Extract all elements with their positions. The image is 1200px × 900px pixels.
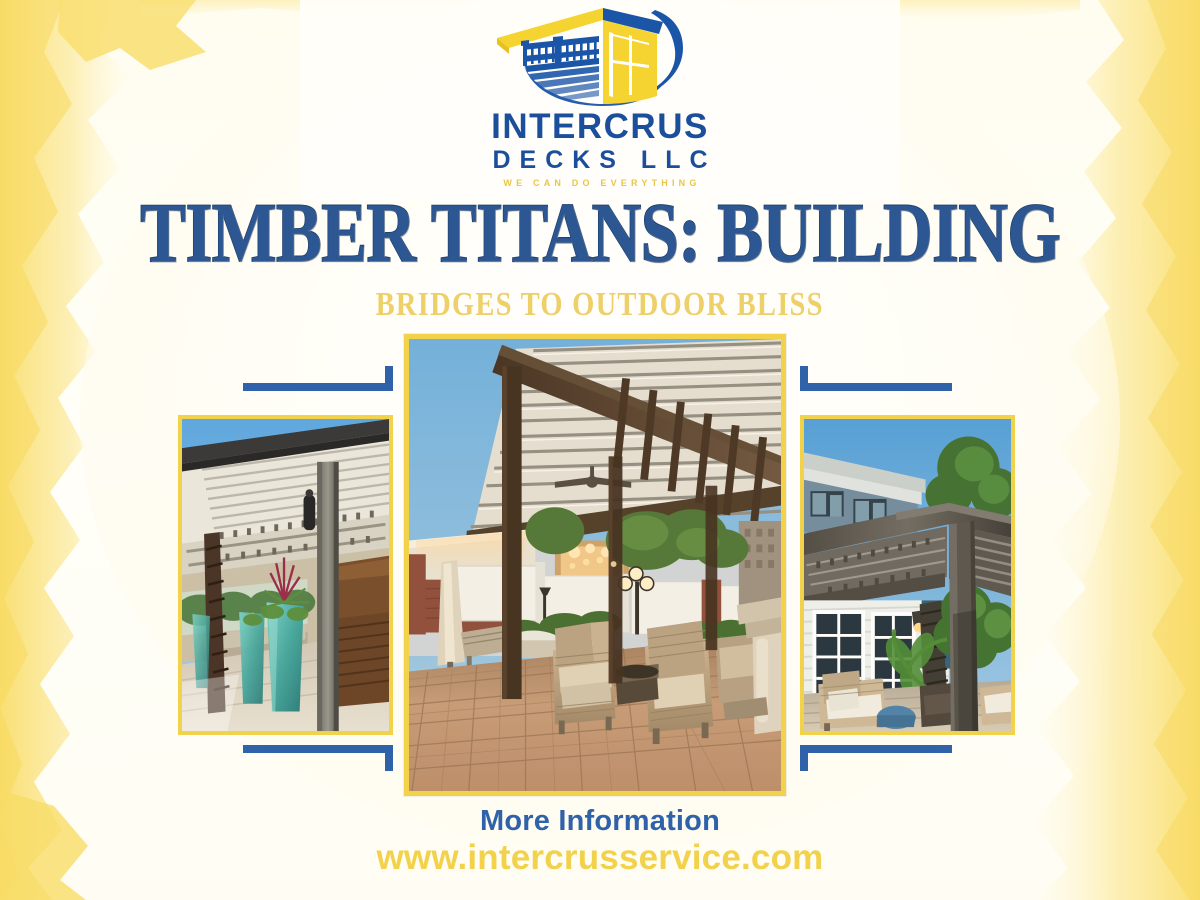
poster-canvas: INTERCRUS DECKS LLC WE CAN DO EVERYTHING… — [0, 0, 1200, 900]
page-title: TIMBER TITANS: BUILDING — [0, 192, 1200, 258]
bracket-right-bottom-horizontal — [800, 745, 952, 753]
bracket-left-top-horizontal — [243, 383, 393, 391]
bracket-left-top-vertical — [385, 366, 393, 391]
page-subtitle-text: BRIDGES TO OUTDOOR BLISS — [376, 288, 824, 322]
bracket-right-bottom-vertical — [800, 745, 808, 771]
pergola-with-teal-planters-photo — [182, 419, 389, 731]
brand-wordmark: INTERCRUS — [491, 109, 709, 144]
gallery-photo-center-frame[interactable] — [404, 334, 786, 796]
footer-contact: More Information www.intercrusservice.co… — [0, 806, 1200, 879]
backyard-pergola-attached-photo — [804, 419, 1011, 731]
deck-house-logo-icon — [487, 4, 713, 108]
page-subtitle: BRIDGES TO OUTDOOR BLISS — [0, 288, 1200, 316]
brand-sub-wordmark: DECKS LLC — [483, 148, 716, 173]
page-title-text: TIMBER TITANS: BUILDING — [140, 192, 1060, 276]
patio-pergola-lounge-photo — [409, 339, 781, 791]
bracket-left-bottom-vertical — [385, 745, 393, 771]
brand-logo: INTERCRUS DECKS LLC WE CAN DO EVERYTHING — [0, 4, 1200, 188]
website-url[interactable]: www.intercrusservice.com — [0, 838, 1200, 878]
gallery-photo-right-frame[interactable] — [800, 415, 1015, 735]
bracket-right-top-horizontal — [800, 383, 952, 391]
more-information-label: More Information — [0, 806, 1200, 836]
bracket-right-top-vertical — [800, 366, 808, 391]
gallery-photo-left-frame[interactable] — [178, 415, 393, 735]
bracket-left-bottom-horizontal — [243, 745, 393, 753]
